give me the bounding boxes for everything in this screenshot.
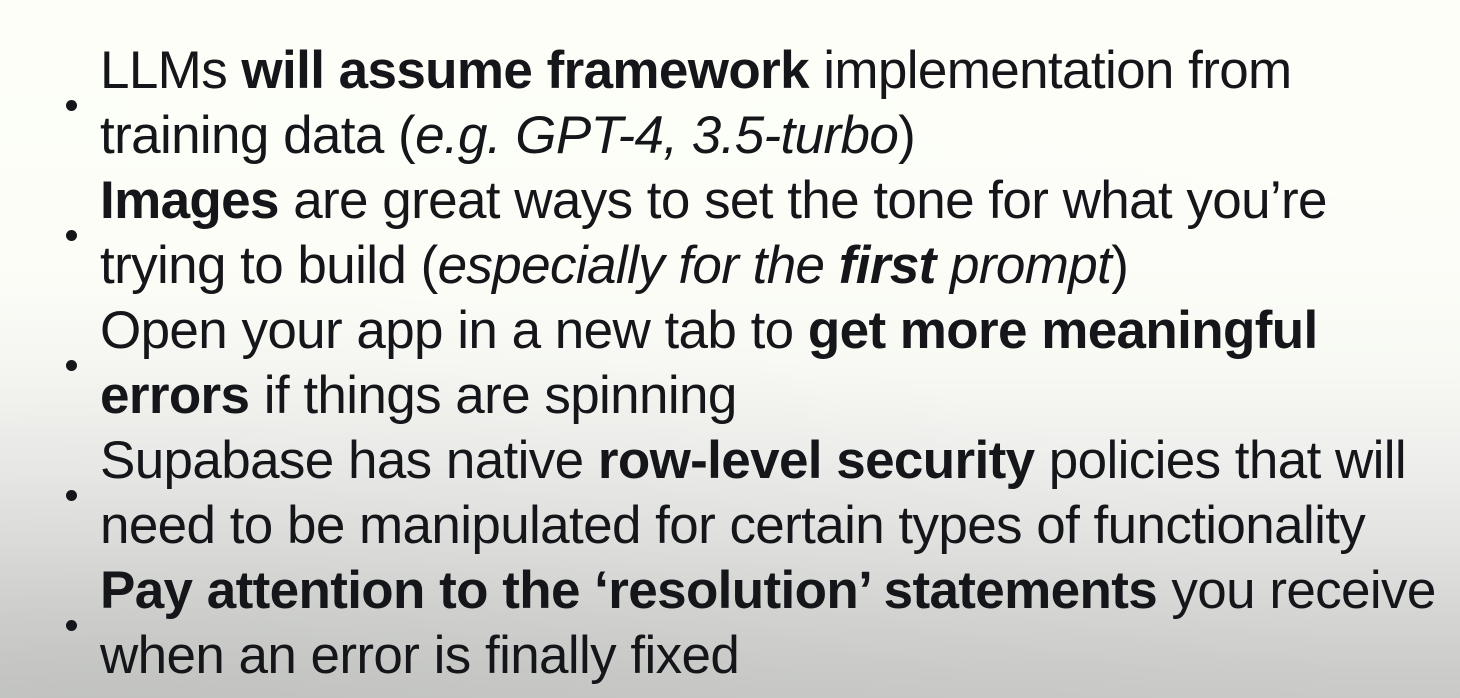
bullet-point-icon: [66, 620, 77, 631]
text-run: will assume framework: [241, 41, 808, 100]
text-run: ): [898, 106, 915, 165]
list-item-text: Open your app in a new tab to get more m…: [100, 301, 1318, 425]
text-run: especially for the: [438, 236, 839, 295]
text-run: first: [839, 236, 936, 295]
text-run: Pay attention to the ‘resolution’ statem…: [100, 561, 1157, 620]
list-item: Images are great ways to set the tone fo…: [0, 168, 1460, 298]
list-item: LLMs will assume framework implementatio…: [0, 0, 1460, 168]
list-item: Pay attention to the ‘resolution’ statem…: [0, 558, 1460, 688]
text-run: prompt: [936, 236, 1112, 295]
bullet-list: LLMs will assume framework implementatio…: [0, 0, 1460, 688]
list-item-text: LLMs will assume framework implementatio…: [100, 41, 1292, 165]
list-item: Supabase has native row-level security p…: [0, 428, 1460, 558]
list-item-text: Pay attention to the ‘resolution’ statem…: [100, 561, 1436, 685]
list-item-text: Images are great ways to set the tone fo…: [100, 171, 1327, 295]
bullet-point-icon: [66, 490, 77, 501]
text-run: Open your app in a new tab to: [100, 301, 808, 360]
bullet-point-icon: [66, 100, 77, 111]
bullet-point-icon: [66, 230, 77, 241]
text-run: ): [1111, 236, 1128, 295]
text-run: row-level security: [598, 431, 1035, 490]
text-run: Images: [100, 171, 279, 230]
text-run: e.g. GPT-4, 3.5-turbo: [415, 106, 898, 165]
text-run: LLMs: [100, 41, 241, 100]
bullet-point-icon: [66, 360, 77, 371]
list-item-text: Supabase has native row-level security p…: [100, 431, 1406, 555]
list-item: Open your app in a new tab to get more m…: [0, 298, 1460, 428]
text-run: Supabase has native: [100, 431, 598, 490]
text-run: if things are spinning: [249, 366, 736, 425]
slide-canvas: LLMs will assume framework implementatio…: [0, 0, 1460, 698]
